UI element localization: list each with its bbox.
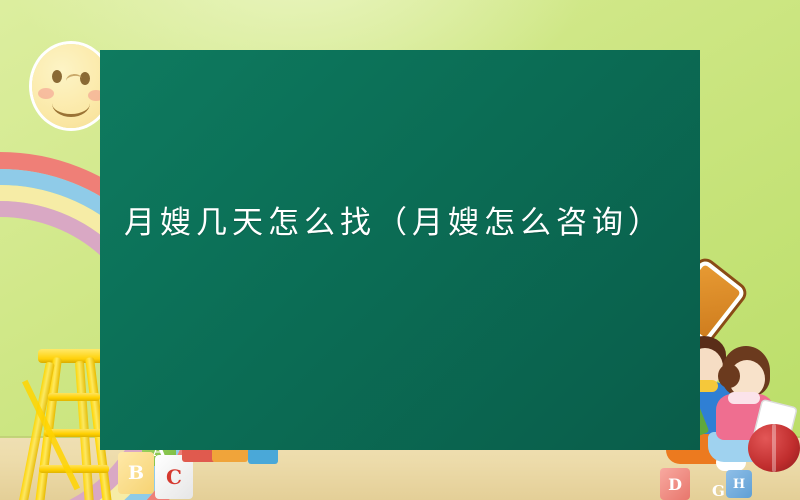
ladder-step: [48, 393, 100, 401]
ladder-step: [39, 465, 109, 473]
block-letter-g: G: [712, 482, 725, 500]
sun-face: [32, 44, 110, 128]
sun-mouth: [52, 90, 90, 117]
chalkboard-panel: 月嫂几天怎么找（月嫂怎么咨询）: [100, 50, 700, 450]
girl-hair-bun: [718, 364, 740, 388]
block-letter-d: D: [660, 468, 690, 500]
ball-stripe: [772, 424, 776, 472]
block-letter-b: B: [118, 452, 154, 494]
sun-eye-left: [52, 70, 62, 83]
block-letter-h: H: [726, 470, 752, 498]
poster-canvas: A B C D G H 月嫂几天怎么找（月嫂怎么咨询）: [0, 0, 800, 500]
girl-collar: [728, 392, 760, 404]
page-title: 月嫂几天怎么找（月嫂怎么咨询）: [114, 196, 700, 250]
sun-brow: [65, 73, 83, 87]
